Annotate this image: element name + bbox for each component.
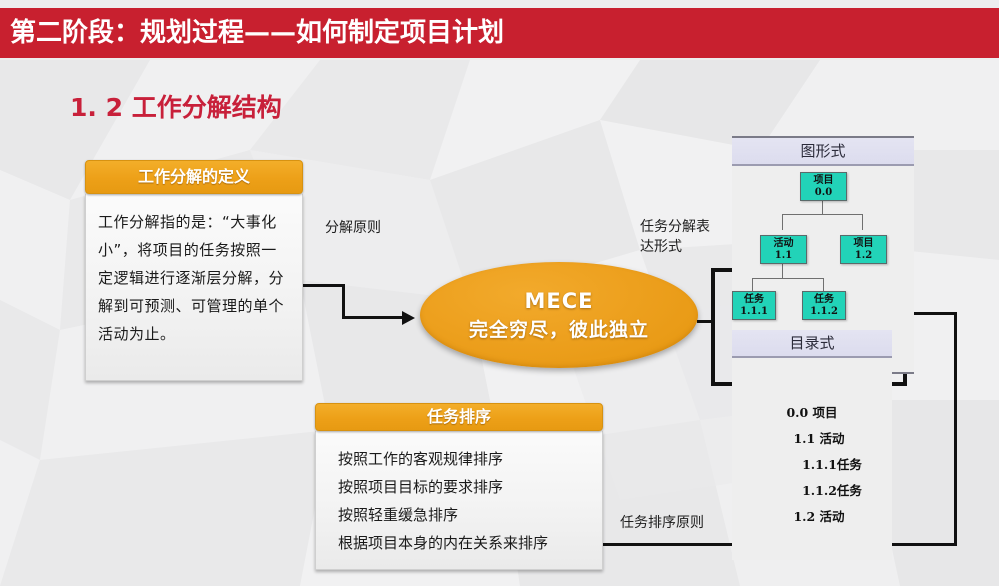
tree-line-level2-horizontal [752,278,824,279]
tree-node-project-1-2-line1: 项目 [854,238,874,250]
tree-line-t112-up [823,278,824,292]
tree-node-task-1-1-1-line2: 1.1.1 [740,306,768,318]
mece-subtitle: 完全穷尽，彼此独立 [469,315,649,342]
annotation-expression-form-line1: 任务分解表 [640,217,710,237]
task-order-card-body: 按照工作的客观规律排序 按照项目目标的要求排序 按照轻重缓急排序 根据项目本身的… [315,431,603,570]
task-order-item: 按照工作的客观规律排序 [338,445,602,473]
annotation-decomposition-principle: 分解原则 [325,218,381,238]
tree-node-task-1-1-2: 任务 1.1.2 [802,291,846,320]
list-item: 1.1.1任务 [732,452,892,478]
list-item: 0.0 项目 [732,400,892,426]
task-order-item: 根据项目本身的内在关系来排序 [338,529,602,557]
graphic-panel-header: 图形式 [732,138,914,166]
connector-def-to-mece-arrowhead [402,311,415,325]
tree-line-a11-down [782,262,783,278]
bracket-left-bottom [711,382,733,386]
list-panel-header: 目录式 [732,330,892,358]
connector-def-to-mece-seg2 [342,284,345,319]
tree-node-root: 项目 0.0 [800,172,847,201]
annotation-expression-form-line2: 达形式 [640,237,710,257]
task-order-item: 按照轻重缓急排序 [338,501,602,529]
task-order-item: 按照项目目标的要求排序 [338,473,602,501]
mece-ellipse: MECE 完全穷尽，彼此独立 [420,262,698,368]
definition-card: 工作分解的定义 工作分解指的是：“大事化小”，将项目的任务按照一定逻辑进行逐渐层… [85,160,303,381]
section-title: 1. 2 工作分解结构 [70,88,282,124]
list-form-panel: 目录式 0.0 项目 1.1 活动 1.1.1任务 1.1.2任务 1.2 活动 [732,330,892,560]
tree-node-activity-1-1-line2: 1.1 [775,250,792,262]
tree-node-activity-1-1-line1: 活动 [774,238,794,250]
tree-node-task-1-1-2-line1: 任务 [814,294,834,306]
slide-canvas: 第二阶段：规划过程——如何制定项目计划 1. 2 工作分解结构 工作分解的定义 … [0,0,999,586]
mece-title: MECE [525,289,594,313]
task-order-card: 任务排序 按照工作的客观规律排序 按照项目目标的要求排序 按照轻重缓急排序 根据… [315,403,603,570]
definition-card-body: 工作分解指的是：“大事化小”，将项目的任务按照一定逻辑进行逐渐层分解，分解到可预… [85,194,303,381]
list-panel-items: 0.0 项目 1.1 活动 1.1.1任务 1.1.2任务 1.2 活动 [732,358,892,530]
tree-node-task-1-1-1: 任务 1.1.1 [732,291,776,320]
tree-node-project-1-2: 项目 1.2 [840,235,887,264]
list-item: 1.1 活动 [732,426,892,452]
slide-title-text: 第二阶段：规划过程——如何制定项目计划 [0,20,504,46]
tree-line-level1-horizontal [782,214,862,215]
annotation-expression-form: 任务分解表 达形式 [640,217,710,257]
bracket-left-vertical [711,268,715,386]
connector-def-to-mece-seg3 [342,316,404,319]
tree-node-root-line2: 0.0 [815,187,832,199]
connector-def-to-mece-seg1 [303,284,345,287]
bracket-left-top [711,268,733,272]
tree-node-project-1-2-line2: 1.2 [855,250,872,262]
tree-node-activity-1-1: 活动 1.1 [760,235,807,264]
tree-line-p12-up [862,214,863,230]
connector-right-to-order-vertical [954,312,957,546]
tree-line-t111-up [752,278,753,292]
list-item: 1.1.2任务 [732,478,892,504]
slide-title-bar: 第二阶段：规划过程——如何制定项目计划 [0,8,999,58]
tree-node-root-line1: 项目 [814,175,834,187]
tree-node-task-1-1-1-line1: 任务 [744,294,764,306]
annotation-ordering-principle: 任务排序原则 [620,513,704,533]
definition-card-header: 工作分解的定义 [85,160,303,194]
tree-node-task-1-1-2-line2: 1.1.2 [810,306,838,318]
task-order-card-header: 任务排序 [315,403,603,431]
list-item: 1.2 活动 [732,504,892,530]
tree-line-a11-up [782,214,783,230]
bracket-left-stem [697,320,713,323]
